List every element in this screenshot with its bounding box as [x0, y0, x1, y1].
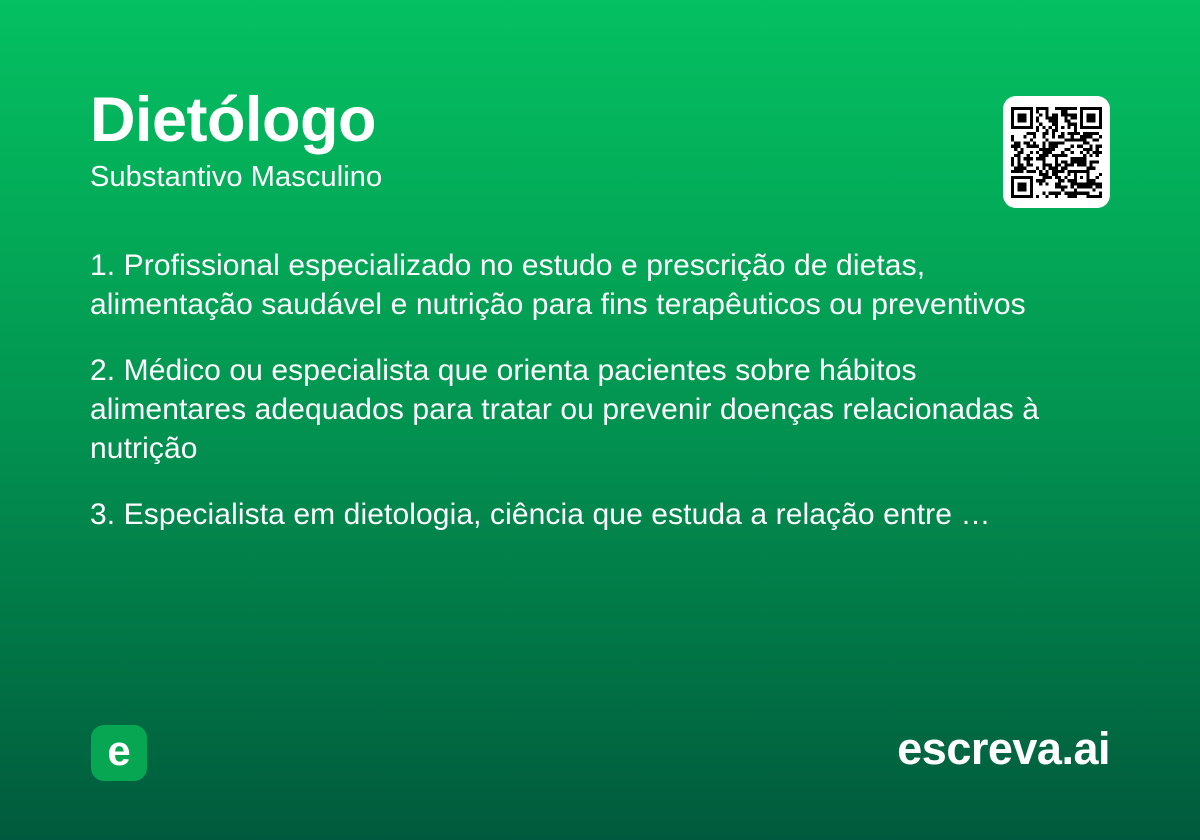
qr-code-card[interactable]: [1003, 96, 1110, 208]
word-class-label: Substantivo Masculino: [90, 160, 970, 195]
definition-item: 2. Médico ou especialista que orienta pa…: [90, 351, 1055, 468]
logo-letter: e: [107, 730, 130, 772]
qr-code-icon: [1011, 107, 1102, 198]
brand-wordmark: escreva.ai: [897, 722, 1110, 776]
definitions-list: 1. Profissional especializado no estudo …: [90, 246, 1055, 534]
dictionary-card: Dietólogo Substantivo Masculino 1. Profi…: [0, 0, 1200, 840]
card-header: Dietólogo Substantivo Masculino: [90, 88, 970, 194]
page-title: Dietólogo: [90, 88, 970, 154]
definition-item: 3. Especialista em dietologia, ciência q…: [90, 495, 1055, 534]
escreva-logo-badge[interactable]: e: [91, 725, 147, 781]
definition-item: 1. Profissional especializado no estudo …: [90, 246, 1055, 324]
